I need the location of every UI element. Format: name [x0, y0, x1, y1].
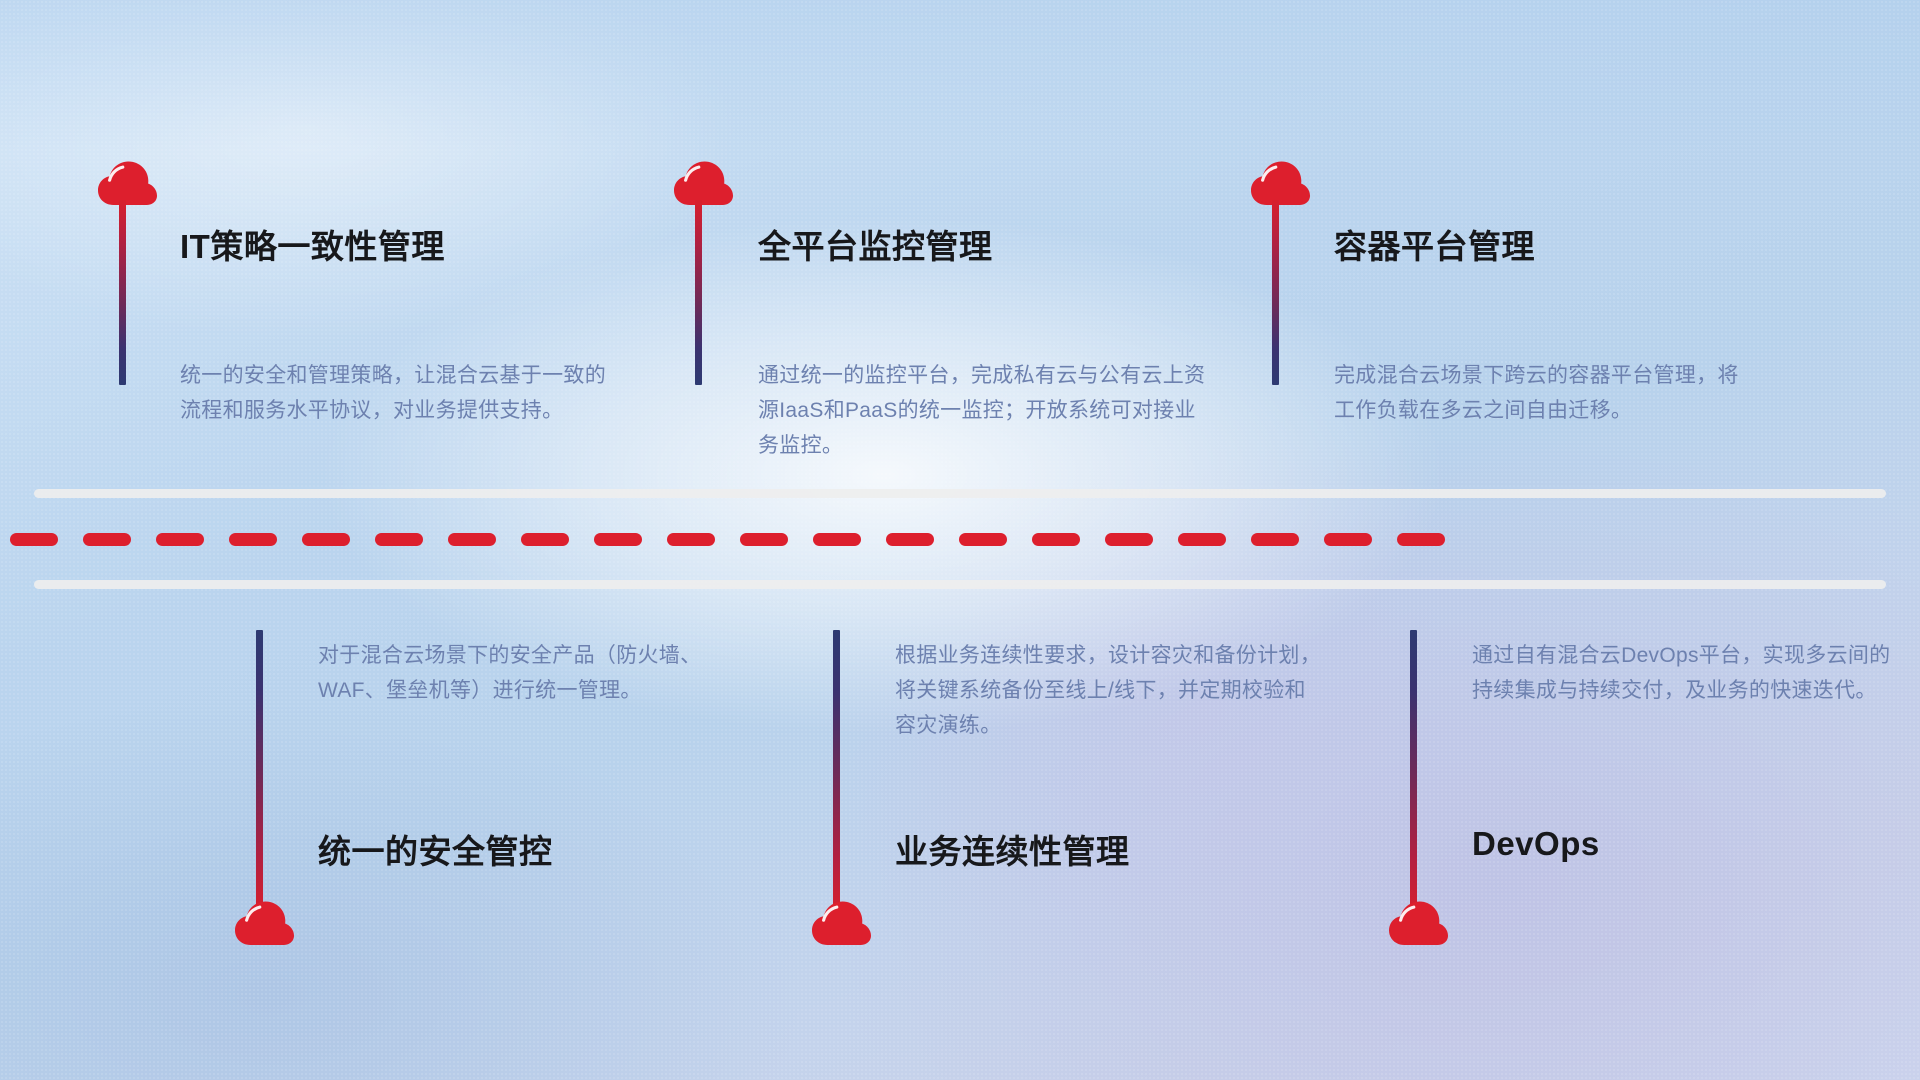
- divider-dash: [521, 533, 569, 546]
- top-item-title: 全平台监控管理: [758, 220, 993, 268]
- divider-dashed-line: [0, 532, 1920, 546]
- divider-dash: [302, 533, 350, 546]
- top-item-body: 完成混合云场景下跨云的容器平台管理，将工作负载在多云之间自由迁移。: [1334, 358, 1754, 428]
- divider-dash: [959, 533, 1007, 546]
- bottom-item-title: 业务连续性管理: [895, 825, 1130, 873]
- divider-dash: [10, 533, 58, 546]
- bottom-item-body: 根据业务连续性要求，设计容灾和备份计划，将关键系统备份至线上/线下，并定期校验和…: [895, 638, 1325, 743]
- top-item-title: IT策略一致性管理: [180, 220, 445, 268]
- divider-dash: [1397, 533, 1445, 546]
- connector-line: [119, 200, 126, 385]
- divider-dash: [375, 533, 423, 546]
- connector-line: [833, 630, 840, 915]
- divider-dash: [886, 533, 934, 546]
- divider-dash: [448, 533, 496, 546]
- cloud-icon: [810, 900, 872, 946]
- divider-dash: [83, 533, 131, 546]
- center-divider: [0, 489, 1920, 589]
- divider-rail-top: [34, 489, 1886, 498]
- connector-line: [256, 630, 263, 915]
- connector-line: [1272, 200, 1279, 385]
- divider-dash: [156, 533, 204, 546]
- divider-dash: [667, 533, 715, 546]
- bottom-item-body: 通过自有混合云DevOps平台，实现多云间的持续集成与持续交付，及业务的快速迭代…: [1472, 638, 1892, 708]
- bottom-item-body: 对于混合云场景下的安全产品（防火墙、WAF、堡垒机等）进行统一管理。: [318, 638, 738, 708]
- infographic-canvas: IT策略一致性管理 统一的安全和管理策略，让混合云基于一致的流程和服务水平协议，…: [0, 0, 1920, 1080]
- cloud-icon: [1249, 160, 1311, 206]
- cloud-icon: [1387, 900, 1449, 946]
- top-item-body: 统一的安全和管理策略，让混合云基于一致的流程和服务水平协议，对业务提供支持。: [180, 358, 610, 428]
- cloud-icon: [672, 160, 734, 206]
- divider-dash: [594, 533, 642, 546]
- divider-dash: [740, 533, 788, 546]
- divider-dash: [1324, 533, 1372, 546]
- bottom-item-title: 统一的安全管控: [318, 825, 553, 873]
- cloud-icon: [233, 900, 295, 946]
- top-item-body: 通过统一的监控平台，完成私有云与公有云上资源IaaS和PaaS的统一监控；开放系…: [758, 358, 1208, 463]
- divider-dash: [813, 533, 861, 546]
- bottom-item-title: DevOps: [1472, 825, 1600, 863]
- divider-dash: [1032, 533, 1080, 546]
- connector-line: [695, 200, 702, 385]
- connector-line: [1410, 630, 1417, 915]
- divider-dash: [229, 533, 277, 546]
- divider-dash: [1251, 533, 1299, 546]
- top-item-title: 容器平台管理: [1334, 220, 1535, 268]
- cloud-icon: [96, 160, 158, 206]
- divider-dash: [1178, 533, 1226, 546]
- divider-rail-bottom: [34, 580, 1886, 589]
- divider-dash: [1105, 533, 1153, 546]
